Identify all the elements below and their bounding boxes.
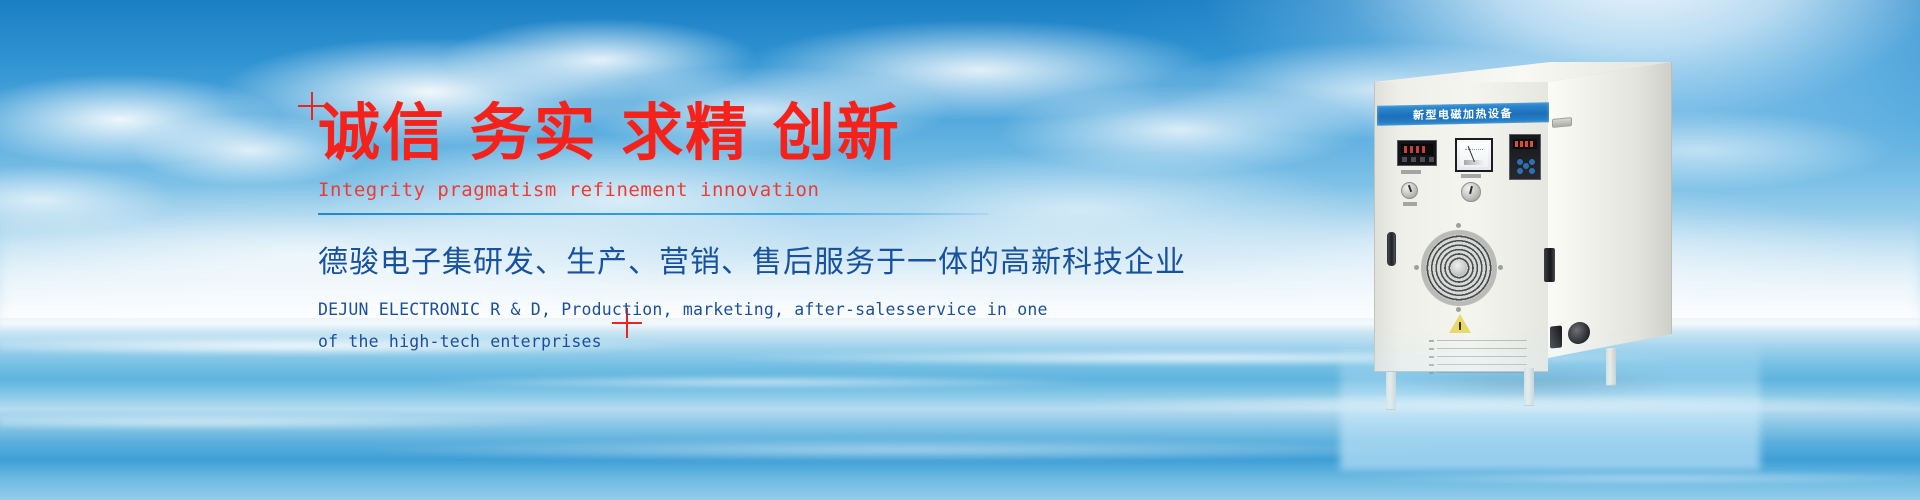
headline-chinese: 诚信 务实 求精 创新	[318, 100, 1018, 165]
banner-copy: 诚信 务实 求精 创新 Integrity pragmatism refinem…	[318, 100, 1018, 358]
product-image-induction-heater: 新型电磁加热设备	[1374, 62, 1694, 462]
control-label	[1401, 170, 1421, 174]
fan-bolt	[1456, 307, 1461, 312]
specification-label	[1437, 340, 1527, 374]
cabinet-leg	[1606, 348, 1616, 387]
specification-bullets	[1429, 340, 1434, 374]
cabinet-leg	[1386, 372, 1396, 410]
flat-connector-port	[1550, 325, 1562, 348]
control-label	[1403, 202, 1417, 206]
fan-bolt	[1456, 223, 1461, 228]
cabinet-door-handle	[1387, 232, 1396, 266]
controller-lcd-screen	[1401, 144, 1433, 155]
control-label	[1461, 174, 1481, 178]
subheadline-chinese: 德骏电子集研发、生产、营销、售后服务于一体的高新科技企业	[318, 237, 1018, 281]
temperature-controller-display	[1397, 140, 1437, 166]
keypad-display	[1513, 139, 1537, 149]
side-latch	[1544, 248, 1555, 282]
rotary-knob	[1401, 182, 1418, 199]
gauge-face	[1460, 143, 1488, 167]
controller-buttons	[1402, 157, 1434, 162]
analog-ammeter-gauge	[1455, 138, 1493, 172]
gauge-label	[1464, 160, 1484, 165]
cabinet-leg	[1524, 368, 1534, 406]
keypad-control-module	[1509, 134, 1541, 180]
subheadline-english-line-1: DEJUN ELECTRONIC R & D, Production, mark…	[318, 294, 1018, 326]
headline-english: Integrity pragmatism refinement innovati…	[318, 179, 1018, 201]
fan-bolt	[1414, 265, 1419, 270]
side-recessed-handle	[1552, 117, 1572, 128]
subheadline-english-line-2: of the high-tech enterprises	[318, 326, 1018, 358]
subheadline-english: DEJUN ELECTRONIC R & D, Production, mark…	[318, 294, 1018, 358]
cooling-fan-grille	[1421, 230, 1497, 306]
rotary-knob	[1461, 182, 1481, 202]
cabinet-front-panel: 新型电磁加热设备	[1374, 82, 1548, 372]
keypad-buttons	[1514, 157, 1536, 175]
divider-rule	[318, 213, 988, 215]
gauge-scale	[1465, 149, 1483, 156]
product-nameplate-label: 新型电磁加热设备	[1413, 105, 1513, 123]
cabinet-side-panel	[1548, 62, 1672, 358]
warning-triangle-icon	[1449, 314, 1471, 333]
fan-bolt	[1498, 265, 1503, 270]
product-nameplate: 新型电磁加热设备	[1377, 102, 1549, 126]
promo-banner: 诚信 务实 求精 创新 Integrity pragmatism refinem…	[0, 0, 1920, 500]
